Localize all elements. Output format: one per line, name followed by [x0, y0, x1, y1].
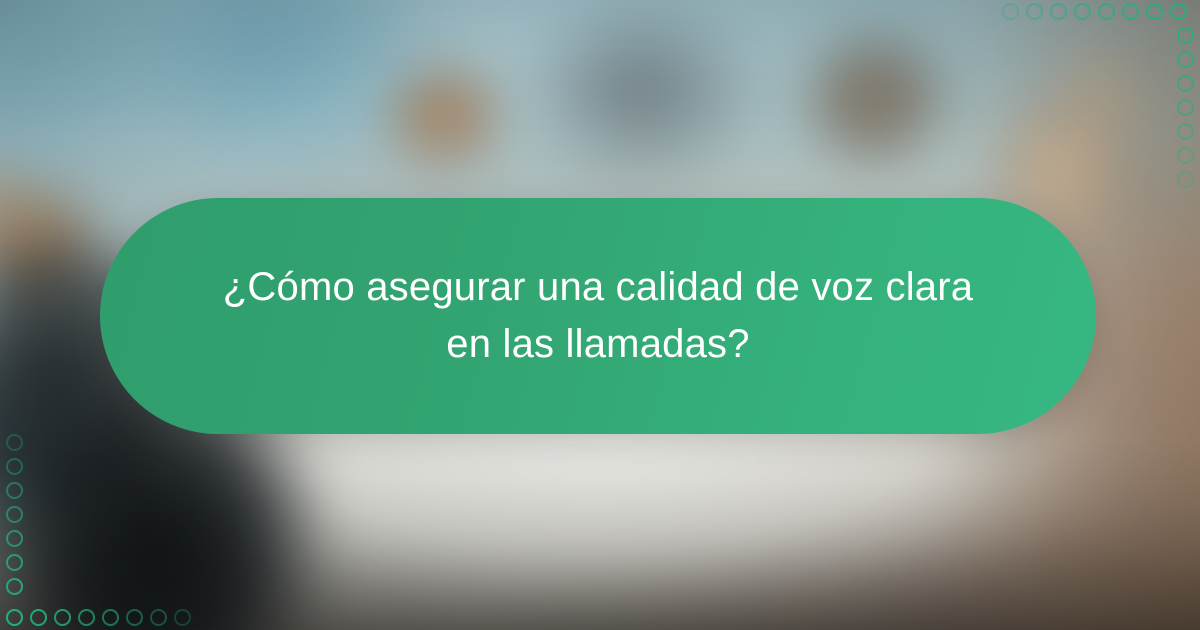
- decorative-dot-top-right-row-6: [1122, 3, 1139, 20]
- decorative-dot-bottom-left-row-2: [30, 609, 47, 626]
- decorative-dot-top-right-row-7: [1146, 3, 1163, 20]
- decorative-dot-top-right-column-4: [1177, 75, 1194, 92]
- decorative-dot-top-right-row-2: [1026, 3, 1043, 20]
- decorative-dot-top-right-column-3: [1177, 51, 1194, 68]
- decorative-dot-bottom-left-column-7: [6, 578, 23, 595]
- decorative-dot-bottom-left-column-4: [6, 506, 23, 523]
- decorative-dot-top-right-column-6: [1177, 123, 1194, 140]
- decorative-dot-top-right-column-5: [1177, 99, 1194, 116]
- decorative-dot-bottom-left-row-4: [78, 609, 95, 626]
- decorative-dot-bottom-left-row-7: [150, 609, 167, 626]
- social-card-canvas: ¿Cómo asegurar una calidad de voz clara …: [0, 0, 1200, 630]
- decorative-dot-bottom-left-column-2: [6, 458, 23, 475]
- decorative-dot-bottom-left-column-6: [6, 554, 23, 571]
- question-title: ¿Cómo asegurar una calidad de voz clara …: [218, 259, 978, 373]
- decorative-dot-top-right-column-2: [1177, 27, 1194, 44]
- decorative-dot-top-right-row-5: [1098, 3, 1115, 20]
- decorative-dot-top-right-row-4: [1074, 3, 1091, 20]
- decorative-dot-top-right-column-7: [1177, 147, 1194, 164]
- decorative-dot-bottom-left-column-5: [6, 530, 23, 547]
- decorative-dot-top-right-row-1: [1002, 3, 1019, 20]
- decorative-dots-bottom-left-row: [6, 609, 198, 626]
- decorative-dot-top-right-row-3: [1050, 3, 1067, 20]
- decorative-dots-bottom-left-column: [6, 434, 23, 626]
- decorative-dot-bottom-left-row-3: [54, 609, 71, 626]
- decorative-dot-top-right-column-8: [1177, 171, 1194, 188]
- decorative-dot-bottom-left-column-3: [6, 482, 23, 499]
- decorative-dot-bottom-left-column-1: [6, 434, 23, 451]
- decorative-dot-bottom-left-row-6: [126, 609, 143, 626]
- decorative-dot-bottom-left-row-5: [102, 609, 119, 626]
- decorative-dots-top-right-column: [1177, 3, 1194, 195]
- decorative-dot-bottom-left-row-8: [174, 609, 191, 626]
- question-card: ¿Cómo asegurar una calidad de voz clara …: [100, 198, 1096, 434]
- decorative-dots-top-right-row: [1002, 3, 1194, 20]
